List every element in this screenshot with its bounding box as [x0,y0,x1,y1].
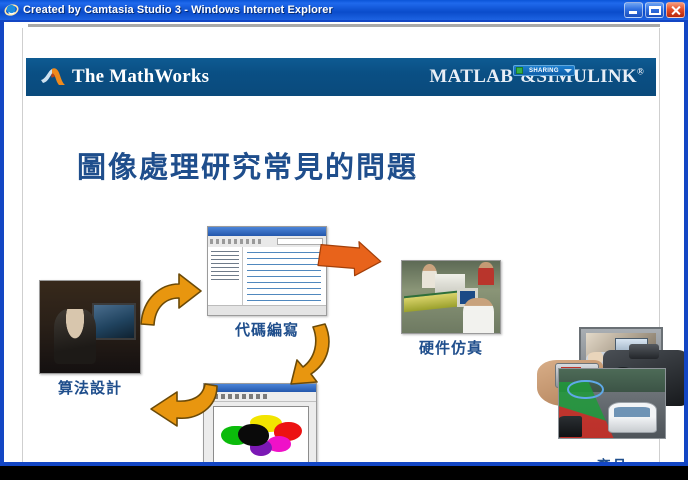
page-title: 圖像處理研究常見的問題 [77,144,418,186]
sharing-badge-label: SHARING [529,68,559,74]
title-bar[interactable]: Created by Camtasia Studio 3 - Windows I… [0,0,688,20]
maximize-button[interactable] [645,2,664,18]
node-caption-hardware-simulation: 硬件仿真 [401,337,501,358]
mathworks-wordmark: The MathWorks [72,66,209,88]
chevron-down-icon [564,69,572,73]
collage-products [537,324,684,452]
internet-explorer-icon [4,3,19,18]
photo-man-at-computer [39,280,141,374]
screenshot-matlab-editor [207,226,327,316]
lane-detection-image [558,368,666,440]
browser-content: The MathWorks MATLAB®&SIMULINK® SHARING … [4,22,684,462]
minimize-button[interactable] [624,2,643,18]
bottom-black-bar [0,466,688,480]
arrow-code-to-test [287,320,337,395]
node-caption-products: 產品 [537,455,684,462]
matlab-simulink-lockup: MATLAB®&SIMULINK® SHARING [429,62,644,92]
presentation-slide: The MathWorks MATLAB®&SIMULINK® SHARING … [22,28,660,462]
window-title: Created by Camtasia Studio 3 - Windows I… [23,4,333,16]
node-products: 產品 [537,324,684,462]
sharing-badge-icon [516,67,523,74]
close-button[interactable] [666,2,685,18]
mathworks-banner: The MathWorks MATLAB®&SIMULINK® SHARING [26,58,656,96]
node-algorithm-design: 算法設計 [39,280,141,398]
node-hardware-simulation: 硬件仿真 [401,260,501,358]
arrow-algo-to-code [135,268,207,335]
mathworks-membrane-icon [40,66,66,88]
photo-factory-conveyor [401,260,501,334]
window-controls [624,2,685,18]
arrow-test-to-algo [147,380,221,433]
arrow-code-to-hardware [317,240,385,289]
node-caption-algorithm-design: 算法設計 [39,377,141,398]
sharing-badge[interactable]: SHARING [513,65,575,76]
browser-window: Created by Camtasia Studio 3 - Windows I… [0,0,688,466]
mathworks-logo: The MathWorks [40,62,209,92]
